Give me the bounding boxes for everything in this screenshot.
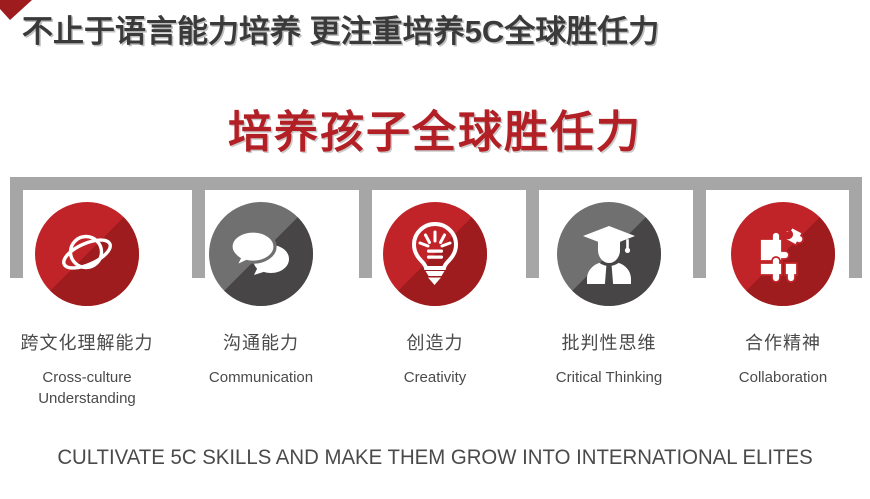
graduate-icon bbox=[557, 202, 661, 306]
skill-label-cn: 创造力 bbox=[407, 332, 464, 355]
skill-label-cn: 合作精神 bbox=[745, 332, 821, 355]
skill-label-en: Communication bbox=[209, 367, 313, 389]
page-title: 不止于语言能力培养 更注重培养5C全球胜任力 bbox=[22, 6, 659, 51]
skill-item-cross-culture[interactable]: 跨文化理解能力 Cross-culture Understanding bbox=[0, 196, 174, 410]
skill-item-communication[interactable]: 沟通能力 Communication bbox=[174, 196, 348, 388]
skill-label-en: Collaboration bbox=[739, 367, 827, 389]
main-headline: 培养孩子全球胜任力 bbox=[0, 96, 870, 160]
skill-icon-badge bbox=[383, 202, 487, 306]
skill-icon-badge bbox=[557, 202, 661, 306]
skill-columns: 跨文化理解能力 Cross-culture Understanding 沟通能力… bbox=[0, 196, 870, 456]
skill-icon-badge bbox=[209, 202, 313, 306]
frame-top-bar bbox=[10, 177, 862, 190]
skill-label-cn: 批判性思维 bbox=[562, 332, 657, 355]
skill-label-en: Critical Thinking bbox=[556, 367, 662, 389]
skill-label-en: Creativity bbox=[404, 367, 467, 389]
skill-item-collaboration[interactable]: 合作精神 Collaboration bbox=[696, 196, 870, 388]
skill-item-critical-thinking[interactable]: 批判性思维 Critical Thinking bbox=[522, 196, 696, 388]
skill-item-creativity[interactable]: 创造力 Creativity bbox=[348, 196, 522, 388]
puzzle-icon bbox=[731, 202, 835, 306]
skill-icon-badge bbox=[731, 202, 835, 306]
planet-icon bbox=[35, 202, 139, 306]
skill-icon-badge bbox=[35, 202, 139, 306]
skill-label-cn: 跨文化理解能力 bbox=[21, 332, 154, 355]
skill-label-cn: 沟通能力 bbox=[223, 332, 299, 355]
speech-bubbles-icon bbox=[209, 202, 313, 306]
footer-tagline: CULTIVATE 5C SKILLS AND MAKE THEM GROW I… bbox=[13, 446, 857, 470]
skill-label-en: Cross-culture Understanding bbox=[12, 367, 162, 411]
slide-root: 不止于语言能力培养 更注重培养5C全球胜任力 培养孩子全球胜任力 bbox=[0, 0, 870, 499]
lightbulb-icon bbox=[383, 202, 487, 306]
